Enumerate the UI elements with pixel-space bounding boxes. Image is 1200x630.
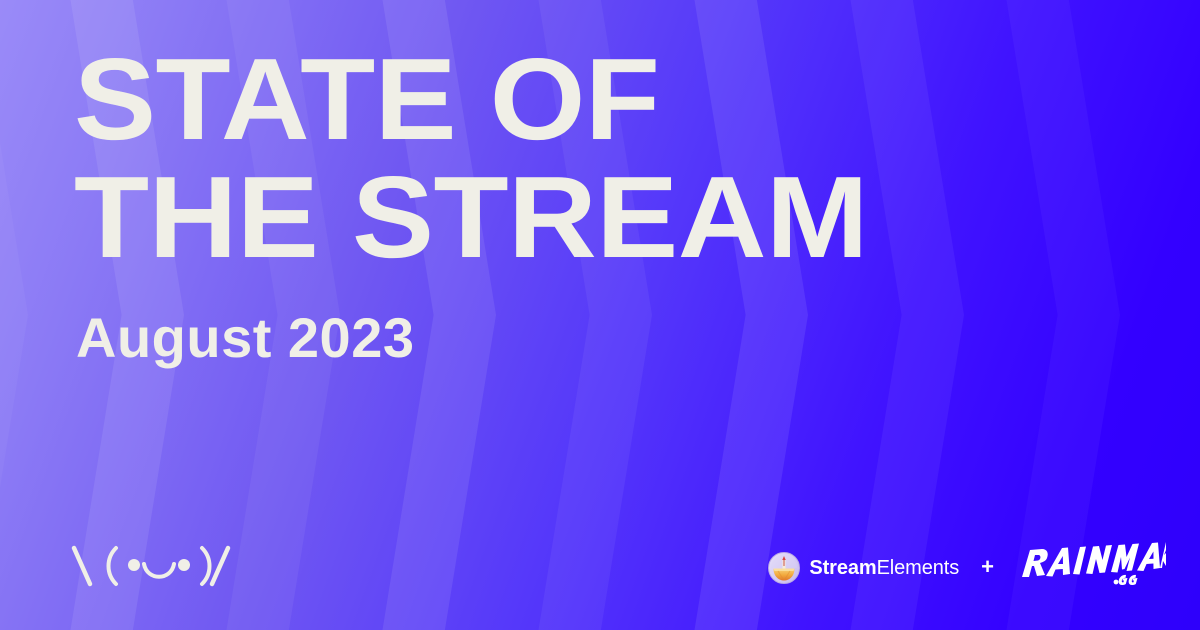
kaomoji-logo [68, 540, 238, 592]
kaomoji-icon [68, 540, 238, 592]
rainmaker-wordmark-icon [1016, 541, 1166, 589]
streamelements-chalice-icon [768, 552, 800, 584]
streamelements-logo[interactable]: StreamElements [768, 552, 959, 584]
chevron-shape [0, 0, 28, 630]
chevron-shape [1000, 0, 1120, 630]
kaomoji-left-eye [128, 559, 140, 571]
headline: STATE OF THE STREAM [74, 44, 823, 272]
subtitle-date: August 2023 [76, 310, 415, 366]
streamelements-word-elements: Elements [877, 557, 960, 579]
streamelements-word-stream: Stream [809, 557, 876, 579]
headline-line-2: THE STREAM [74, 162, 868, 272]
poster-canvas: STATE OF THE STREAM August 2023 [0, 0, 1200, 630]
brand-lockup: StreamElements + [768, 541, 1166, 594]
kaomoji-right-eye [178, 559, 190, 571]
rainmaker-logo[interactable] [1016, 541, 1166, 594]
streamelements-wordmark: StreamElements [809, 558, 959, 578]
headline-line-1: STATE OF [74, 44, 868, 154]
brand-separator-plus: + [981, 556, 994, 580]
